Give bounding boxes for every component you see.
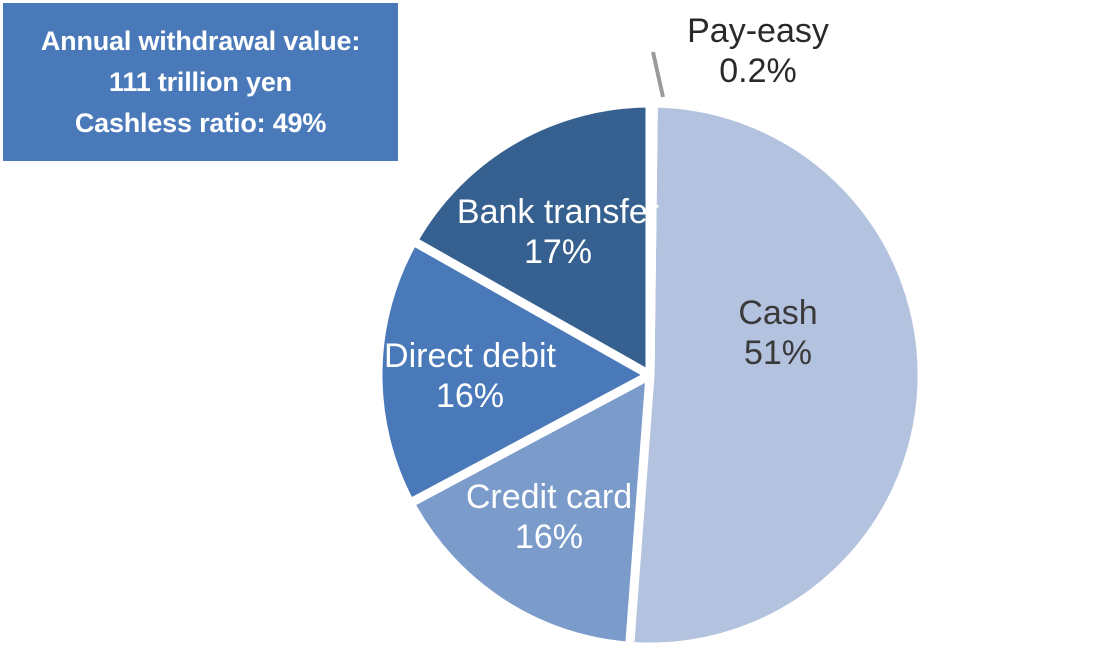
pie-slices bbox=[378, 103, 922, 647]
chart-canvas: Annual withdrawal value: 111 trillion ye… bbox=[0, 0, 1120, 668]
pie-leader-lines bbox=[653, 52, 663, 97]
pie-slice-cash[interactable] bbox=[630, 103, 922, 647]
pay-easy-leader-line bbox=[653, 52, 663, 97]
pie-chart bbox=[0, 0, 1120, 668]
pie-slice-pay-easy[interactable] bbox=[650, 103, 653, 375]
